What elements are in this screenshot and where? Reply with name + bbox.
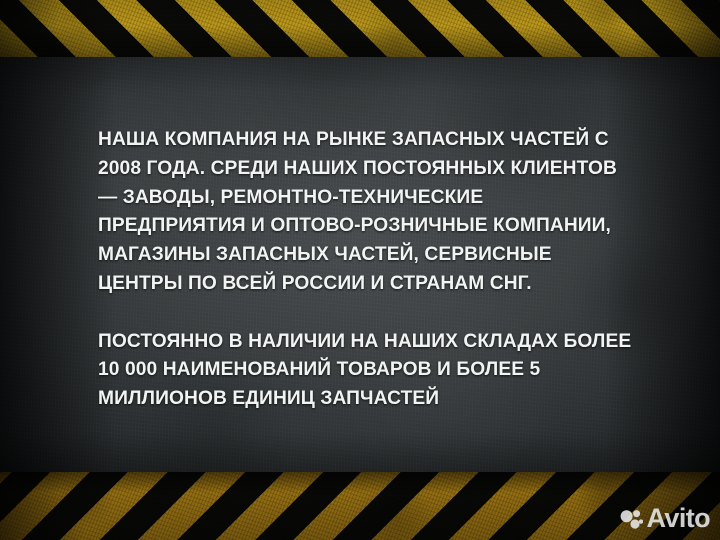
avito-dots-logo-icon <box>619 507 643 531</box>
hazard-stripe-band-top <box>0 0 720 57</box>
body-paragraph-2: Постоянно в наличии на наших складах бол… <box>98 328 634 414</box>
poster: Наша компания на рынке запасных частей с… <box>0 0 720 540</box>
avito-wordmark: Avito <box>647 505 711 532</box>
body-copy: Наша компания на рынке запасных частей с… <box>98 126 634 414</box>
hazard-shading-bottom <box>0 472 720 540</box>
body-paragraph-1: Наша компания на рынке запасных частей с… <box>98 126 634 299</box>
avito-watermark: Avito <box>619 505 711 532</box>
hazard-stripe-band-bottom <box>0 472 720 540</box>
hazard-shading-top <box>0 0 720 57</box>
